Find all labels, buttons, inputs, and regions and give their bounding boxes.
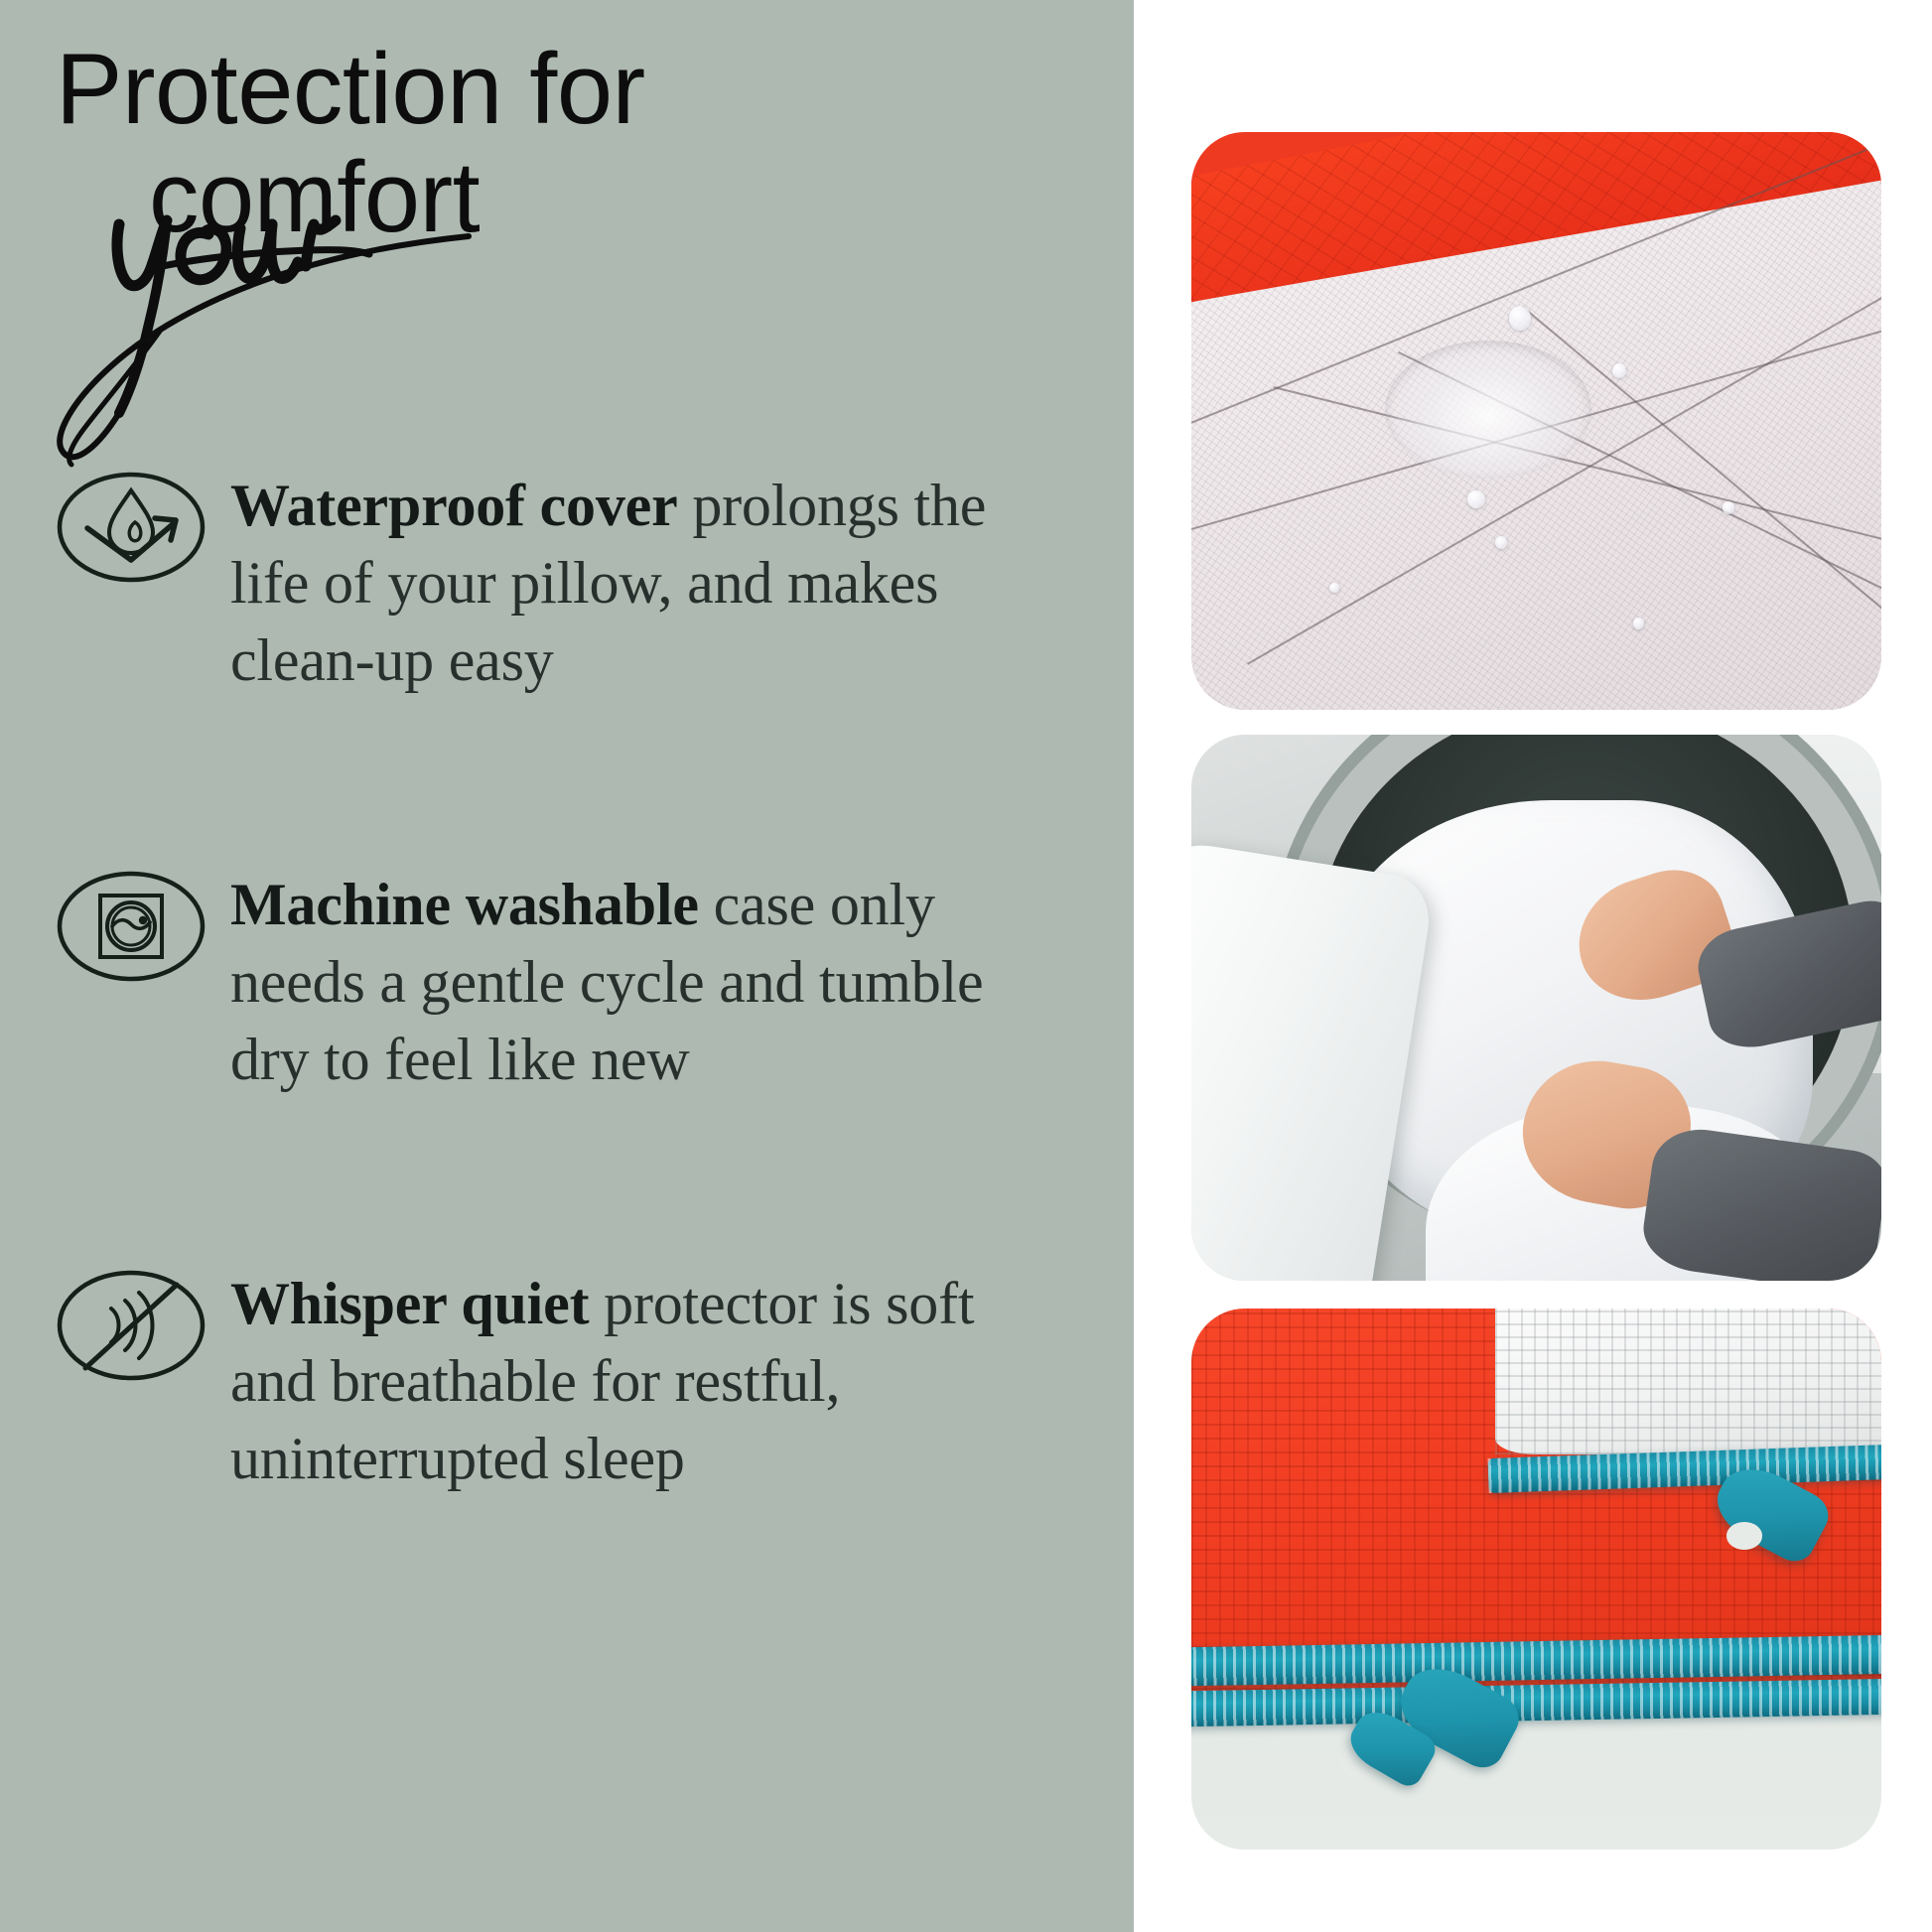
infographic-page: Protection for comfort: [0, 0, 1932, 1932]
washing-machine-photo: [1191, 735, 1881, 1281]
headline-line-1: Protection for: [56, 38, 1068, 142]
feature-lead-waterproof: Waterproof cover: [230, 473, 678, 538]
zipper-detail-photo: [1191, 1309, 1881, 1850]
feature-item-waterproof: Waterproof cover prolongs the life of yo…: [0, 467, 1134, 794]
feature-item-machine-washable: Machine washable case only needs a gentl…: [0, 866, 1134, 1193]
headline-line-2-text: comfort: [149, 142, 480, 253]
feature-text-whisper-quiet: Whisper quiet protector is soft and brea…: [230, 1265, 1044, 1497]
page-title: Protection for comfort: [56, 38, 1068, 254]
feature-item-whisper-quiet: Whisper quiet protector is soft and brea…: [0, 1265, 1134, 1592]
feature-text-waterproof: Waterproof cover prolongs the life of yo…: [230, 467, 1044, 699]
headline-line-2: comfort: [56, 142, 1068, 254]
washing-machine-icon: [52, 866, 210, 987]
feature-text-machine-washable: Machine washable case only needs a gentl…: [230, 866, 1044, 1098]
feature-list: Waterproof cover prolongs the life of yo…: [0, 467, 1134, 1664]
left-sage-panel: Protection for comfort: [0, 0, 1134, 1932]
feature-lead-machine-washable: Machine washable: [230, 872, 699, 937]
water-repellent-icon: [52, 467, 210, 588]
no-noise-icon: [52, 1265, 210, 1386]
waterproof-pillow-photo: [1191, 132, 1881, 710]
feature-lead-whisper-quiet: Whisper quiet: [230, 1271, 589, 1336]
